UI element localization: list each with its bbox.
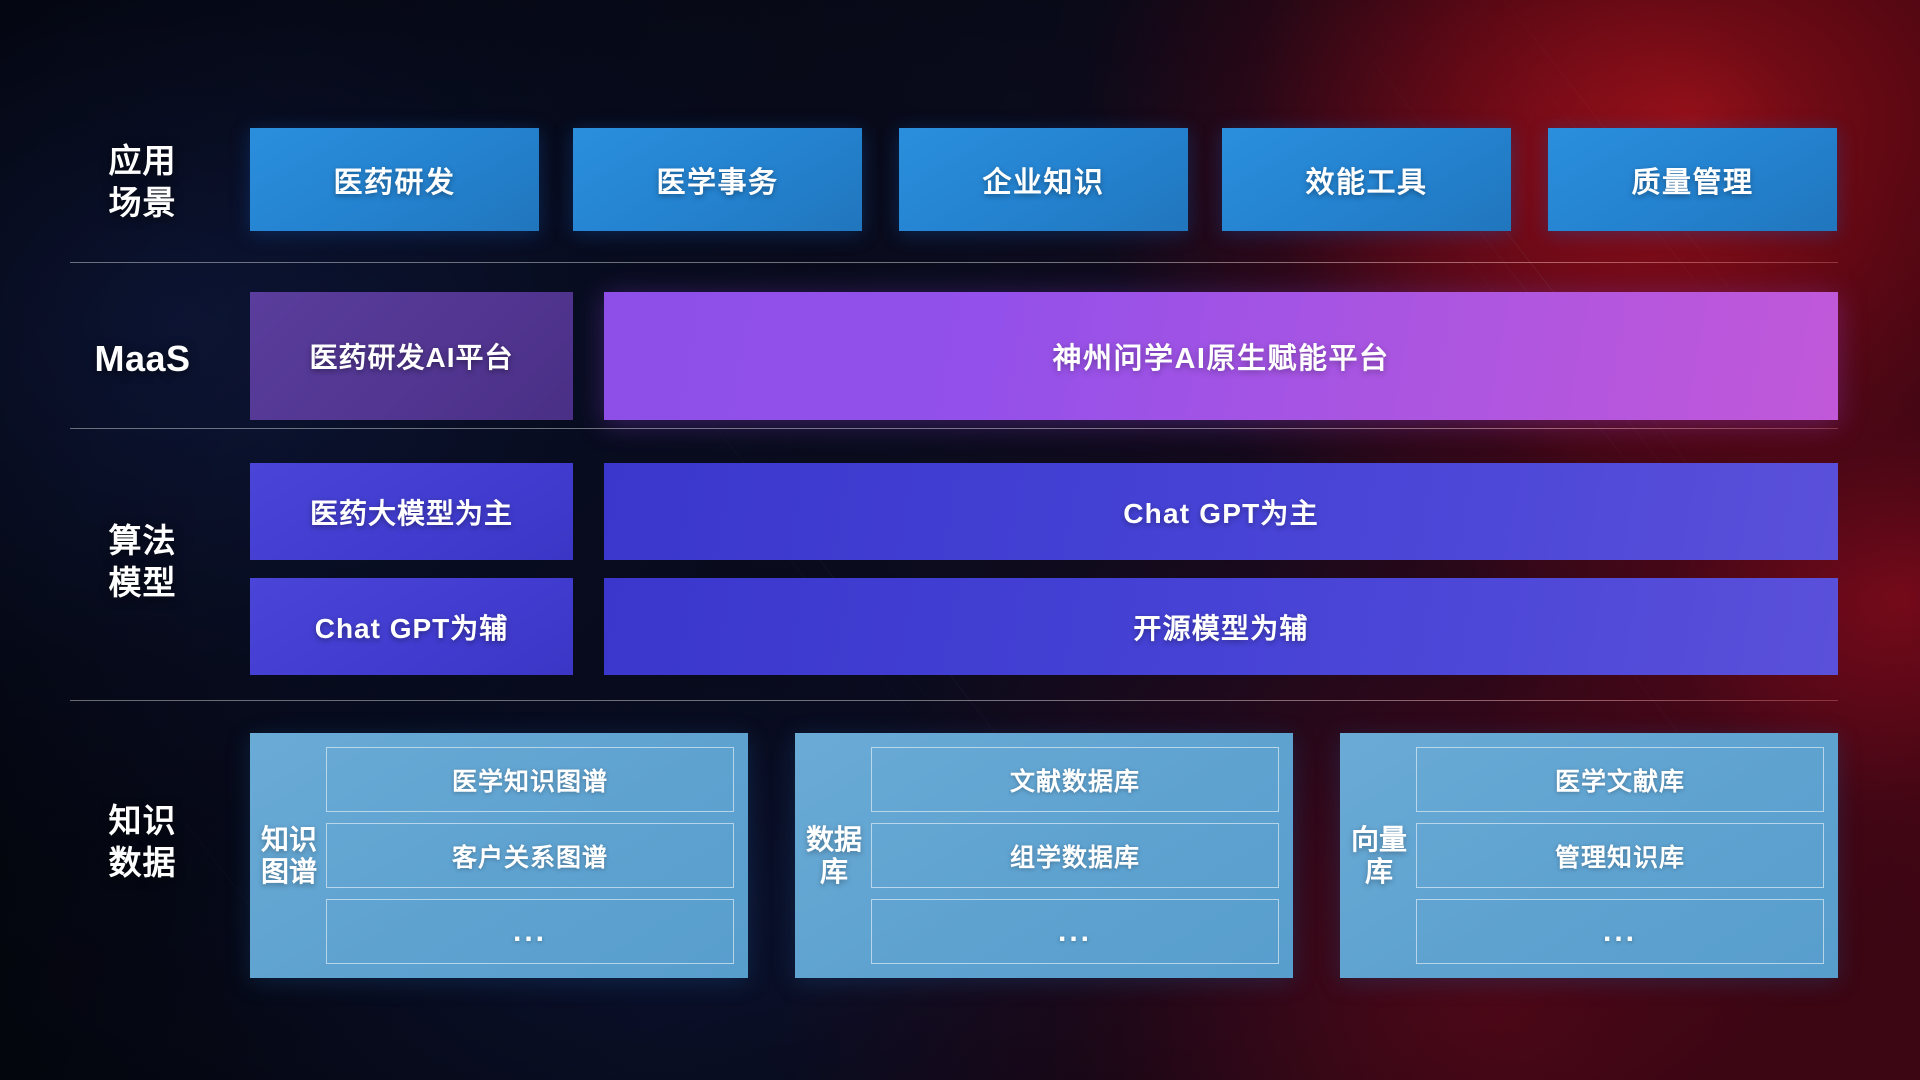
app-scenario-label: 医药研发: [333, 159, 455, 201]
layer-label-algorithm-models: 算法 模型: [55, 520, 230, 603]
maas-enablement-platform-banner[interactable]: 神州问学AI原生赋能平台: [604, 292, 1838, 420]
algo-model-label: Chat GPT为主: [1123, 492, 1319, 532]
layer-divider-1: [70, 262, 1838, 263]
app-scenario-label: 医学事务: [656, 159, 778, 201]
algo-model-box-row1-right[interactable]: Chat GPT为主: [604, 463, 1838, 560]
algo-model-box-row2-right[interactable]: 开源模型为辅: [604, 578, 1838, 675]
slide-canvas: 应用 场景 医药研发 医学事务 企业知识 效能工具 质量管理 MaaS 医药研发…: [0, 0, 1920, 1080]
layer-label-application-scenarios: 应用 场景: [55, 140, 230, 223]
knowledge-item[interactable]: 管理知识库: [1416, 823, 1824, 888]
algo-model-box-row1-left[interactable]: 医药大模型为主: [250, 463, 573, 560]
knowledge-item-more[interactable]: ...: [871, 899, 1279, 964]
app-scenario-box-5[interactable]: 质量管理: [1548, 128, 1837, 231]
knowledge-item[interactable]: 客户关系图谱: [326, 823, 734, 888]
knowledge-group-knowledge-graph[interactable]: 知识图谱 医学知识图谱 客户关系图谱 ...: [250, 733, 748, 978]
knowledge-group-vector-store[interactable]: 向量库 医学文献库 管理知识库 ...: [1340, 733, 1838, 978]
layer-label-knowledge-data: 知识 数据: [55, 800, 230, 883]
knowledge-group-title: 向量库: [1348, 824, 1410, 887]
app-scenario-box-3[interactable]: 企业知识: [899, 128, 1188, 231]
algo-model-label: Chat GPT为辅: [315, 607, 509, 647]
maas-enablement-platform-label: 神州问学AI原生赋能平台: [1052, 335, 1389, 377]
knowledge-group-database[interactable]: 数据库 文献数据库 组学数据库 ...: [795, 733, 1293, 978]
knowledge-item[interactable]: 文献数据库: [871, 747, 1279, 812]
algo-model-label: 医药大模型为主: [310, 492, 513, 532]
app-scenario-box-1[interactable]: 医药研发: [250, 128, 539, 231]
layer-label-maas: MaaS: [55, 336, 230, 381]
knowledge-group-items: 医学知识图谱 客户关系图谱 ...: [320, 747, 734, 964]
knowledge-group-items: 医学文献库 管理知识库 ...: [1410, 747, 1824, 964]
layer-divider-2: [70, 428, 1838, 429]
algo-model-box-row2-left[interactable]: Chat GPT为辅: [250, 578, 573, 675]
app-scenario-box-4[interactable]: 效能工具: [1222, 128, 1511, 231]
layer-divider-3: [70, 700, 1838, 701]
algo-model-label: 开源模型为辅: [1133, 607, 1308, 647]
knowledge-item[interactable]: 组学数据库: [871, 823, 1279, 888]
maas-platform-label: 医药研发AI平台: [309, 336, 513, 376]
knowledge-group-title: 知识图谱: [258, 824, 320, 887]
app-scenario-box-2[interactable]: 医学事务: [573, 128, 862, 231]
maas-platform-box[interactable]: 医药研发AI平台: [250, 292, 573, 420]
knowledge-item-more[interactable]: ...: [1416, 899, 1824, 964]
knowledge-group-title: 数据库: [803, 824, 865, 887]
app-scenario-label: 质量管理: [1631, 159, 1753, 201]
knowledge-item[interactable]: 医学文献库: [1416, 747, 1824, 812]
knowledge-item-more[interactable]: ...: [326, 899, 734, 964]
app-scenario-label: 企业知识: [982, 159, 1104, 201]
knowledge-group-items: 文献数据库 组学数据库 ...: [865, 747, 1279, 964]
knowledge-item[interactable]: 医学知识图谱: [326, 747, 734, 812]
app-scenario-label: 效能工具: [1305, 159, 1427, 201]
